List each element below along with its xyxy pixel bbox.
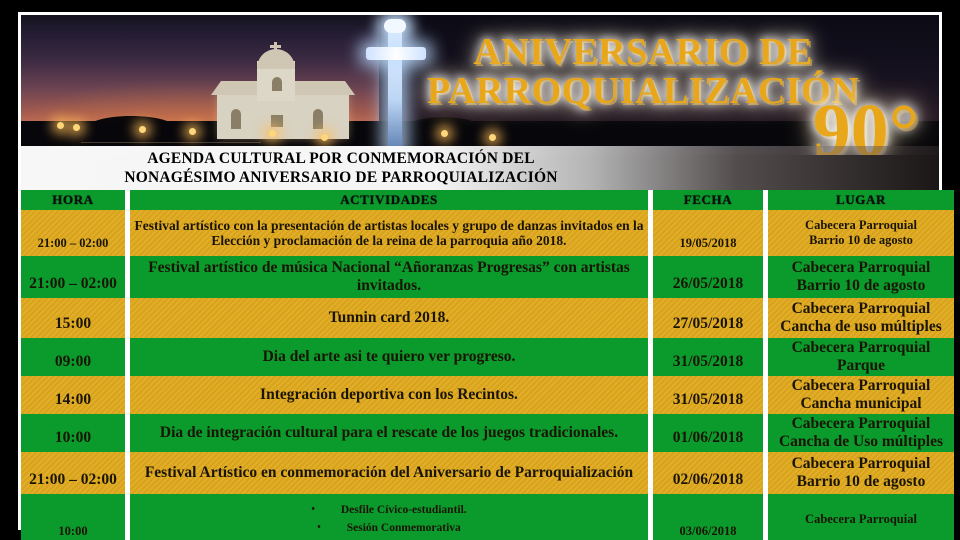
table-row: 10:00Dia de integración cultural para el… [21,414,939,452]
cell-hora: 21:00 – 02:00 [21,210,125,256]
cell-hora: 21:00 – 02:00 [21,452,125,494]
agenda-table: HORA ACTIVIDADES FECHA LUGAR 21:00 – 02:… [21,190,939,530]
fecha-value: 26/05/2018 [673,275,744,293]
hora-value: 15:00 [55,315,91,333]
cell-lugar: Cabecera Parroquial [768,494,954,540]
street-lamp-icon [489,134,496,141]
activity-text: Festival artístico con la presentación d… [134,218,644,248]
fecha-value: 03/06/2018 [680,524,737,539]
list-item: •Desfile Cívico-estudiantil. [134,501,644,519]
cell-lugar: Cabecera ParroquialParque [768,338,954,376]
table-row: 14:00Integración deportiva con los Recin… [21,376,939,414]
fecha-value: 19/05/2018 [680,236,737,251]
church-building-icon [217,61,349,139]
cell-actividad: Dia de integración cultural para el resc… [130,414,648,452]
street-lamp-icon [73,124,80,131]
cell-actividad: Tunnin card 2018. [130,298,648,338]
street-lamp-icon [139,126,146,133]
cell-lugar: Cabecera ParroquialCancha de Uso múltipl… [768,414,954,452]
fecha-value: 31/05/2018 [673,353,744,371]
cell-lugar: Cabecera ParroquialCancha municipal [768,376,954,414]
table-row: 21:00 – 02:00Festival Artístico en conme… [21,452,939,494]
hora-value: 21:00 – 02:00 [38,236,109,251]
cell-fecha: 03/06/2018 [653,494,763,540]
cell-hora: 09:00 [21,338,125,376]
street-lamp-icon [441,130,448,137]
table-header-row: HORA ACTIVIDADES FECHA LUGAR [21,190,939,210]
table-body: 21:00 – 02:00Festival artístico con la p… [21,210,939,540]
activity-bullet-list: •Desfile Cívico-estudiantil.•Sesión Conm… [134,501,644,537]
street-lamp-icon [57,122,64,129]
agenda-title-band: AGENDA CULTURAL POR CONMEMORACIÓN DEL NO… [21,146,939,190]
fecha-value: 02/06/2018 [673,471,744,489]
hora-value: 21:00 – 02:00 [29,275,117,293]
cell-fecha: 26/05/2018 [653,256,763,298]
hora-value: 09:00 [55,353,91,371]
table-row: 21:00 – 02:00Festival artístico con la p… [21,210,939,256]
column-header-actividades: ACTIVIDADES [130,190,648,210]
activity-text: Desfile Cívico-estudiantil. [341,501,467,519]
agenda-title-line2: NONAGÉSIMO ANIVERSARIO DE PARROQUIALIZAC… [21,168,661,187]
table-row: 15:00Tunnin card 2018.27/05/2018Cabecera… [21,298,939,338]
cell-actividad: •Desfile Cívico-estudiantil.•Sesión Conm… [130,494,648,540]
activity-text: Dia de integración cultural para el resc… [160,424,618,442]
cell-lugar: Cabecera ParroquialBarrio 10 de agosto [768,452,954,494]
cell-actividad: Festival artístico de música Nacional “A… [130,256,648,298]
cell-fecha: 02/06/2018 [653,452,763,494]
cell-lugar: Cabecera ParroquialCancha de uso múltipl… [768,298,954,338]
cell-fecha: 31/05/2018 [653,376,763,414]
hora-value: 10:00 [55,429,91,447]
cell-hora: 10:00 [21,414,125,452]
list-item: •Sesión Conmemorativa [134,519,644,537]
lugar-value: Cabecera ParroquialCancha de Uso múltipl… [779,415,943,451]
lugar-value: Cabecera ParroquialBarrio 10 de agosto [805,218,917,248]
cell-lugar: Cabecera ParroquialBarrio 10 de agosto [768,210,954,256]
cell-fecha: 31/05/2018 [653,338,763,376]
agenda-title-line1: AGENDA CULTURAL POR CONMEMORACIÓN DEL [21,149,661,168]
hora-value: 21:00 – 02:00 [29,471,117,489]
bullet-icon: • [311,501,315,519]
activity-text: Festival artístico de música Nacional “A… [134,259,644,295]
banner-photo: ANIVERSARIO DE PARROQUIALIZACIÓN 90° [21,15,939,155]
fecha-value: 27/05/2018 [673,315,744,333]
illuminated-cross-monument [366,23,426,151]
street-lamp-icon [189,128,196,135]
cell-actividad: Festival artístico con la presentación d… [130,210,648,256]
lugar-value: Cabecera ParroquialCancha municipal [792,377,931,413]
column-header-hora: HORA [21,190,125,210]
event-poster: ANIVERSARIO DE PARROQUIALIZACIÓN 90° AGE… [0,0,960,540]
lugar-value: Cabecera ParroquialCancha de uso múltipl… [780,300,942,336]
cell-lugar: Cabecera ParroquialBarrio 10 de agosto [768,256,954,298]
fecha-value: 31/05/2018 [673,391,744,409]
lugar-value: Cabecera ParroquialBarrio 10 de agosto [792,455,931,491]
column-header-lugar: LUGAR [768,190,954,210]
activity-text: Integración deportiva con los Recintos. [260,386,518,404]
table-row: 10:00•Desfile Cívico-estudiantil.•Sesión… [21,494,939,540]
street-lamp-icon [321,134,328,141]
cell-hora: 21:00 – 02:00 [21,256,125,298]
cell-hora: 14:00 [21,376,125,414]
lugar-value: Cabecera ParroquialBarrio 10 de agosto [792,259,931,295]
cell-fecha: 27/05/2018 [653,298,763,338]
table-row: 09:00Dia del arte asi te quiero ver prog… [21,338,939,376]
activity-text: Dia del arte asi te quiero ver progreso. [263,348,516,366]
cell-fecha: 01/06/2018 [653,414,763,452]
hora-value: 10:00 [58,524,87,539]
table-row: 21:00 – 02:00Festival artístico de músic… [21,256,939,298]
activity-text: Tunnin card 2018. [329,309,449,327]
agenda-title-text: AGENDA CULTURAL POR CONMEMORACIÓN DEL NO… [21,149,661,187]
cell-actividad: Festival Artístico en conmemoración del … [130,452,648,494]
lugar-value: Cabecera Parroquial [805,512,917,527]
cell-actividad: Dia del arte asi te quiero ver progreso. [130,338,648,376]
activity-text: Festival Artístico en conmemoración del … [145,464,633,482]
cell-hora: 15:00 [21,298,125,338]
cell-actividad: Integración deportiva con los Recintos. [130,376,648,414]
cell-hora: 10:00 [21,494,125,540]
cell-fecha: 19/05/2018 [653,210,763,256]
bullet-icon: • [317,519,321,537]
hora-value: 14:00 [55,391,91,409]
street-lamp-icon [269,130,276,137]
lugar-value: Cabecera ParroquialParque [792,339,931,375]
column-header-fecha: FECHA [653,190,763,210]
fecha-value: 01/06/2018 [673,429,744,447]
activity-text: Sesión Conmemorativa [347,519,461,537]
